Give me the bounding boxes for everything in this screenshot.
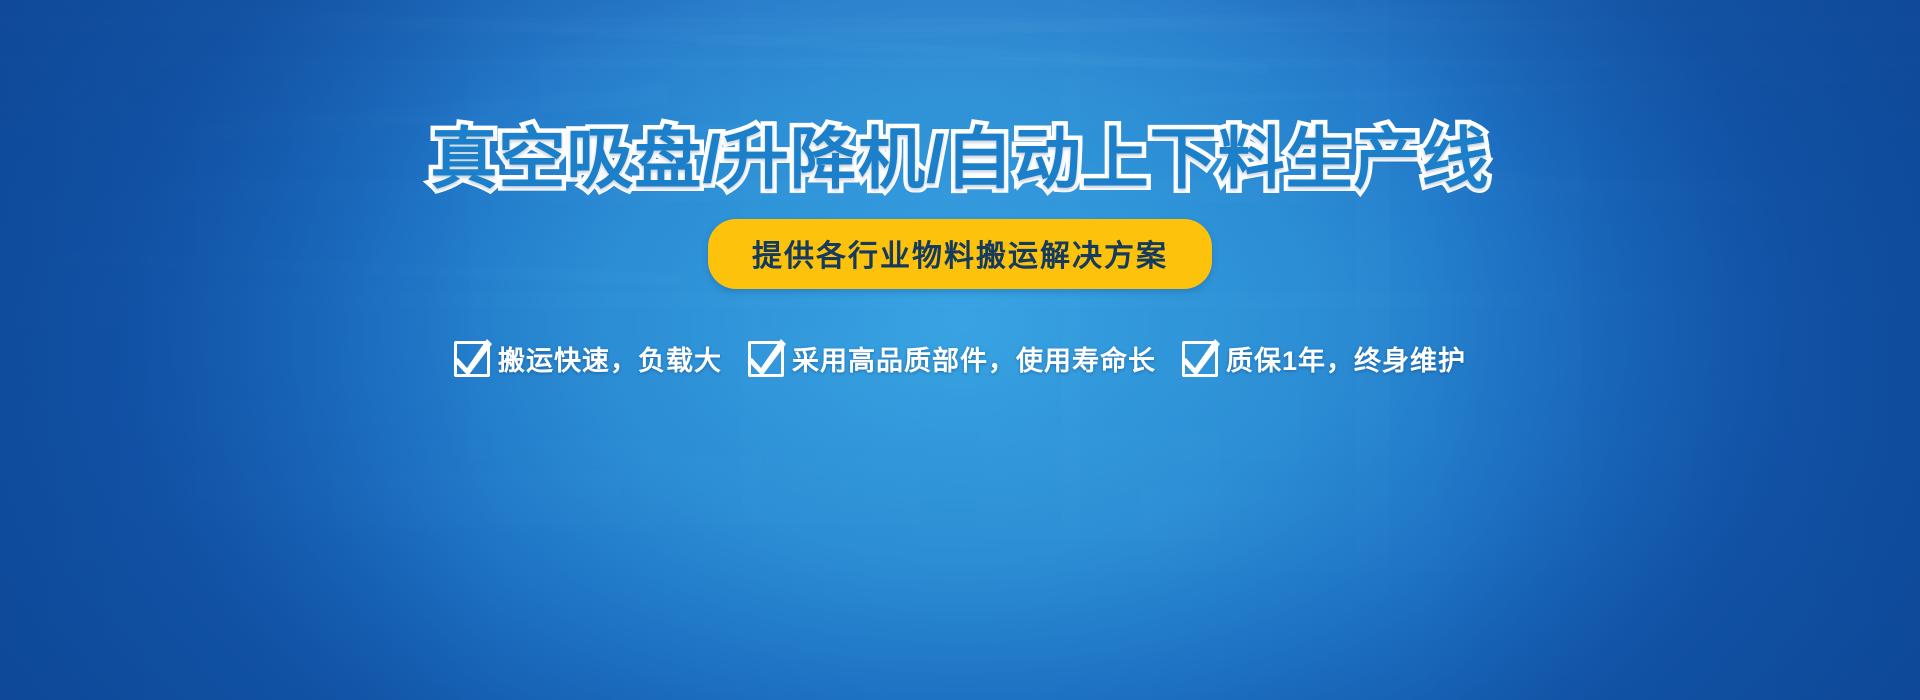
checkbox-checked-icon	[454, 341, 490, 377]
feature-item: 质保1年，终身维护	[1182, 339, 1466, 378]
feature-label: 采用高品质部件，使用寿命长	[792, 339, 1156, 378]
banner-title: 真空吸盘/升降机/自动上下料生产线	[430, 126, 1489, 193]
feature-item: 采用高品质部件，使用寿命长	[748, 339, 1156, 378]
checkbox-checked-icon	[748, 341, 784, 377]
feature-label: 质保1年，终身维护	[1226, 339, 1466, 378]
feature-list: 搬运快速，负载大 采用高品质部件，使用寿命长 质保1年，终身维护	[454, 339, 1466, 378]
feature-item: 搬运快速，负载大	[454, 339, 722, 378]
feature-label: 搬运快速，负载大	[498, 339, 722, 378]
checkbox-checked-icon	[1182, 341, 1218, 377]
banner-content: 真空吸盘/升降机/自动上下料生产线 提供各行业物料搬运解决方案 搬运快速，负载大…	[0, 0, 1920, 700]
banner-subtitle-badge: 提供各行业物料搬运解决方案	[708, 219, 1212, 289]
hero-banner: 真空吸盘/升降机/自动上下料生产线 提供各行业物料搬运解决方案 搬运快速，负载大…	[0, 0, 1920, 700]
